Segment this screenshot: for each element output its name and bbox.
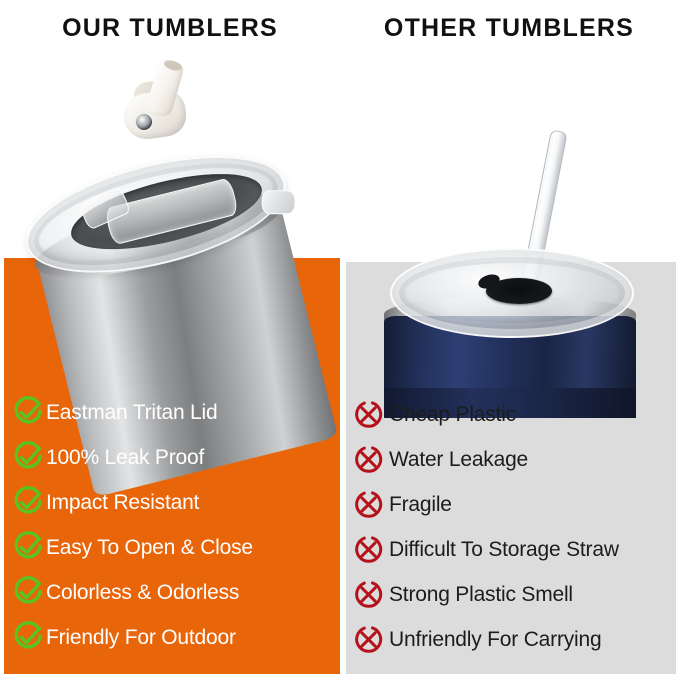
comparison-infographic: OUR TUMBLERS OTHER TUMBLERS [0,0,679,674]
lid-latch [262,190,296,214]
cross-circle-icon [352,488,385,521]
list-item: Water Leakage [352,437,672,482]
check-circle-icon [12,486,45,519]
straw-stopper-accessory [120,60,194,142]
page-title-our-tumblers: OUR TUMBLERS [0,14,340,43]
stopper-metal-ring [136,114,152,130]
list-item: Easy To Open & Close [12,525,332,570]
feature-list-our-tumblers: Eastman Tritan Lid 100% Leak Proof Impac… [12,390,332,660]
cross-circle-icon [352,443,385,476]
list-item: Fragile [352,482,672,527]
check-circle-icon [12,441,45,474]
list-item-label: Easy To Open & Close [46,536,253,560]
list-item: Colorless & Odorless [12,570,332,615]
list-item: Friendly For Outdoor [12,615,332,660]
list-item-label: Impact Resistant [46,491,199,515]
list-item-label: Unfriendly For Carrying [389,628,601,652]
list-item: Eastman Tritan Lid [12,390,332,435]
list-item-label: Eastman Tritan Lid [46,401,218,425]
list-item: Impact Resistant [12,480,332,525]
lid-straw-hole [486,278,552,304]
list-item-label: Fragile [389,493,452,517]
cross-circle-icon [352,623,385,656]
product-image-other-tumbler [340,120,679,398]
list-item: Unfriendly For Carrying [352,617,672,662]
page-title-other-tumblers: OTHER TUMBLERS [339,14,679,43]
check-circle-icon [12,396,45,429]
list-item-label: Cheap Plastic [389,403,516,427]
check-circle-icon [12,531,45,564]
list-item: Strong Plastic Smell [352,572,672,617]
list-item-label: 100% Leak Proof [46,446,204,470]
cross-circle-icon [352,398,385,431]
list-item-label: Difficult To Storage Straw [389,538,619,562]
check-circle-icon [12,576,45,609]
list-item-label: Friendly For Outdoor [46,626,236,650]
product-image-our-tumbler [0,48,340,398]
list-item-label: Water Leakage [389,448,528,472]
list-item: Difficult To Storage Straw [352,527,672,572]
check-circle-icon [12,621,45,654]
list-item-label: Colorless & Odorless [46,581,239,605]
list-item: Cheap Plastic [352,392,672,437]
cross-circle-icon [352,533,385,566]
cross-circle-icon [352,578,385,611]
list-item: 100% Leak Proof [12,435,332,480]
feature-list-other-tumblers: Cheap Plastic Water Leakage Fragile [352,392,672,662]
list-item-label: Strong Plastic Smell [389,583,573,607]
